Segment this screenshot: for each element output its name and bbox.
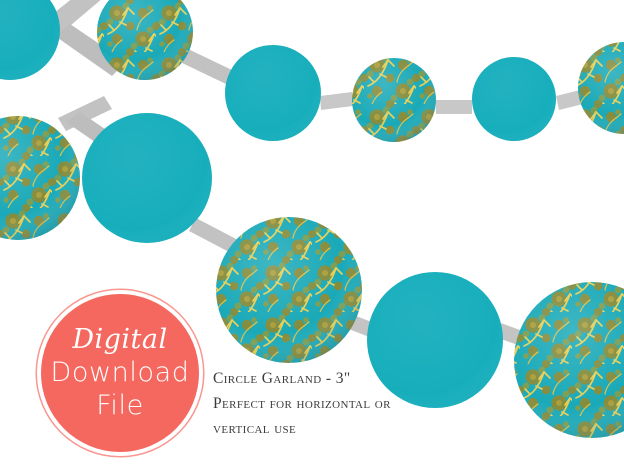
garland-circle-shade [352, 58, 436, 142]
garland-circle-shade [82, 113, 212, 243]
garland-circle-shade [225, 45, 321, 141]
badge-line-file: File [96, 389, 144, 422]
caption-line-detail-two: vertical use [213, 416, 513, 441]
garland-circle-shade [216, 217, 362, 363]
badge-line-download: Download [50, 356, 189, 389]
caption-line-title: Circle Garland - 3" [213, 366, 513, 391]
poster-canvas: Digital Download File Circle Garland - 3… [0, 0, 624, 468]
product-caption: Circle Garland - 3" Perfect for horizont… [213, 366, 513, 441]
caption-line-detail-one: Perfect for horizontal or [213, 391, 513, 416]
ribbon-connector-icon [436, 100, 472, 114]
digital-download-file-badge: Digital Download File [41, 294, 199, 452]
garland-circle-shade [472, 57, 556, 141]
badge-line-digital: Digital [72, 325, 167, 355]
